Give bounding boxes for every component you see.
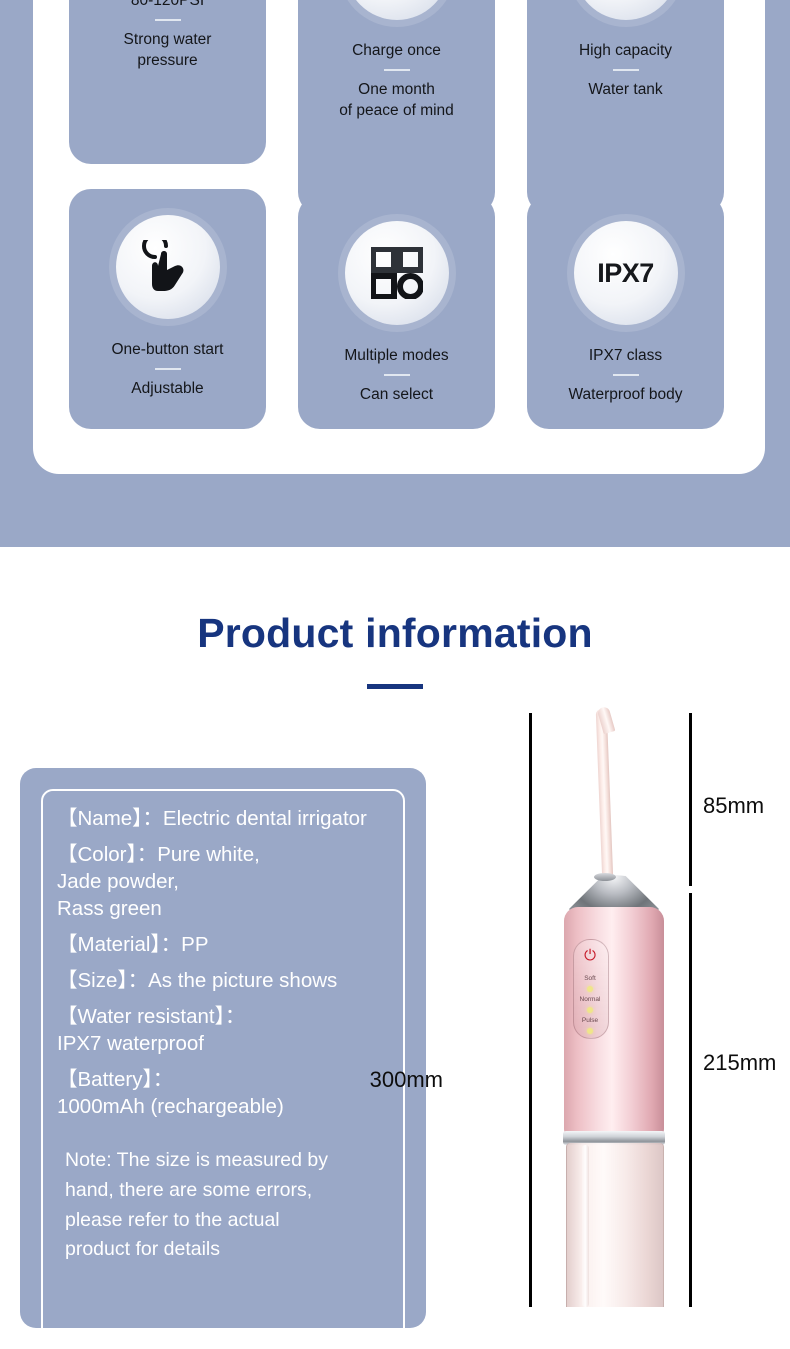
feature-card-multiple-modes[interactable]: Multiple modes Can select: [298, 195, 495, 429]
feature-card-grid: 80-120PSI Strong water pressure Charge o…: [33, 0, 765, 474]
feature-separator: [384, 69, 410, 71]
feature-title: Charge once: [352, 41, 441, 60]
feature-separator: [613, 69, 639, 71]
spec-color: 【Color】：Pure white, Jade powder, Rass gr…: [57, 841, 393, 922]
feature-separator: [613, 374, 639, 376]
feature-separator: [155, 368, 181, 370]
ipx7-badge-text: IPX7: [597, 258, 654, 289]
feature-card-ipx7[interactable]: IPX7 IPX7 class Waterproof body: [527, 195, 724, 429]
feature-title: Multiple modes: [344, 346, 448, 365]
tap-hand-icon: [116, 215, 220, 319]
product-photo-area: 300mm 85mm 215mm ⏻ Soft Normal Pulse: [440, 707, 790, 1307]
feature-subtitle: One month of peace of mind: [339, 80, 454, 122]
mode-led-soft: [587, 986, 593, 992]
feature-separator: [384, 374, 410, 376]
collar-ring: [594, 873, 616, 881]
mode-label-normal: Normal: [566, 996, 614, 1003]
feature-card-water-pressure[interactable]: 80-120PSI Strong water pressure: [69, 0, 266, 164]
feature-panel: 80-120PSI Strong water pressure Charge o…: [33, 0, 765, 474]
spec-material: 【Material】：PP: [57, 931, 393, 958]
dimension-line-body: [689, 893, 692, 1307]
spec-name: 【Name】：Electric dental irrigator: [57, 805, 393, 832]
feature-separator: [155, 19, 181, 21]
water-tank: [566, 1143, 664, 1307]
mode-led-normal: [587, 1007, 593, 1013]
mode-led-pulse: [587, 1028, 593, 1034]
water-tank-icon: [574, 0, 678, 20]
spec-note: Note: The size is measured by hand, ther…: [65, 1146, 393, 1265]
feature-title: One-button start: [111, 340, 223, 359]
tank-tube: [582, 1145, 589, 1307]
product-information-section: Product information: [0, 547, 790, 707]
feature-subtitle: Can select: [360, 385, 433, 406]
feature-subtitle: Strong water pressure: [124, 30, 212, 72]
dimension-line-total: [529, 713, 532, 1307]
product-image: ⏻ Soft Normal Pulse: [538, 707, 688, 1307]
feature-card-one-button-start[interactable]: One-button start Adjustable: [69, 189, 266, 429]
feature-band: 80-120PSI Strong water pressure Charge o…: [0, 0, 790, 547]
nozzle: [596, 709, 614, 881]
feature-subtitle: Waterproof body: [568, 385, 682, 406]
power-icon: ⏻: [582, 948, 598, 964]
mode-label-soft: Soft: [566, 975, 614, 982]
feature-title: 80-120PSI: [131, 0, 204, 10]
title-underline: [367, 684, 423, 689]
dimension-label-body: 215mm: [703, 1050, 776, 1076]
dimension-line-nozzle: [689, 713, 692, 886]
page-title: Product information: [0, 610, 790, 657]
dimension-label-total: 300mm: [370, 1067, 443, 1093]
mode-label-pulse: Pulse: [566, 1017, 614, 1024]
dimension-label-nozzle: 85mm: [703, 793, 764, 819]
modes-grid-icon: [345, 221, 449, 325]
spec-battery: 【Battery】： 1000mAh (rechargeable): [57, 1066, 393, 1120]
battery-icon: [345, 0, 449, 20]
feature-card-battery[interactable]: Charge once One month of peace of mind: [298, 0, 495, 214]
spec-panel: 【Name】：Electric dental irrigator 【Color】…: [20, 768, 426, 1328]
spec-panel-inner: 【Name】：Electric dental irrigator 【Color】…: [41, 789, 405, 1349]
spec-water-resistant: 【Water resistant】： IPX7 waterproof: [57, 1003, 393, 1057]
feature-subtitle: Water tank: [588, 80, 662, 101]
feature-subtitle: Adjustable: [131, 379, 203, 400]
feature-title: IPX7 class: [589, 346, 662, 365]
feature-title: High capacity: [579, 41, 672, 60]
ipx7-icon: IPX7: [574, 221, 678, 325]
spec-size: 【Size】：As the picture shows: [57, 967, 393, 994]
feature-card-water-tank[interactable]: High capacity Water tank: [527, 0, 724, 214]
